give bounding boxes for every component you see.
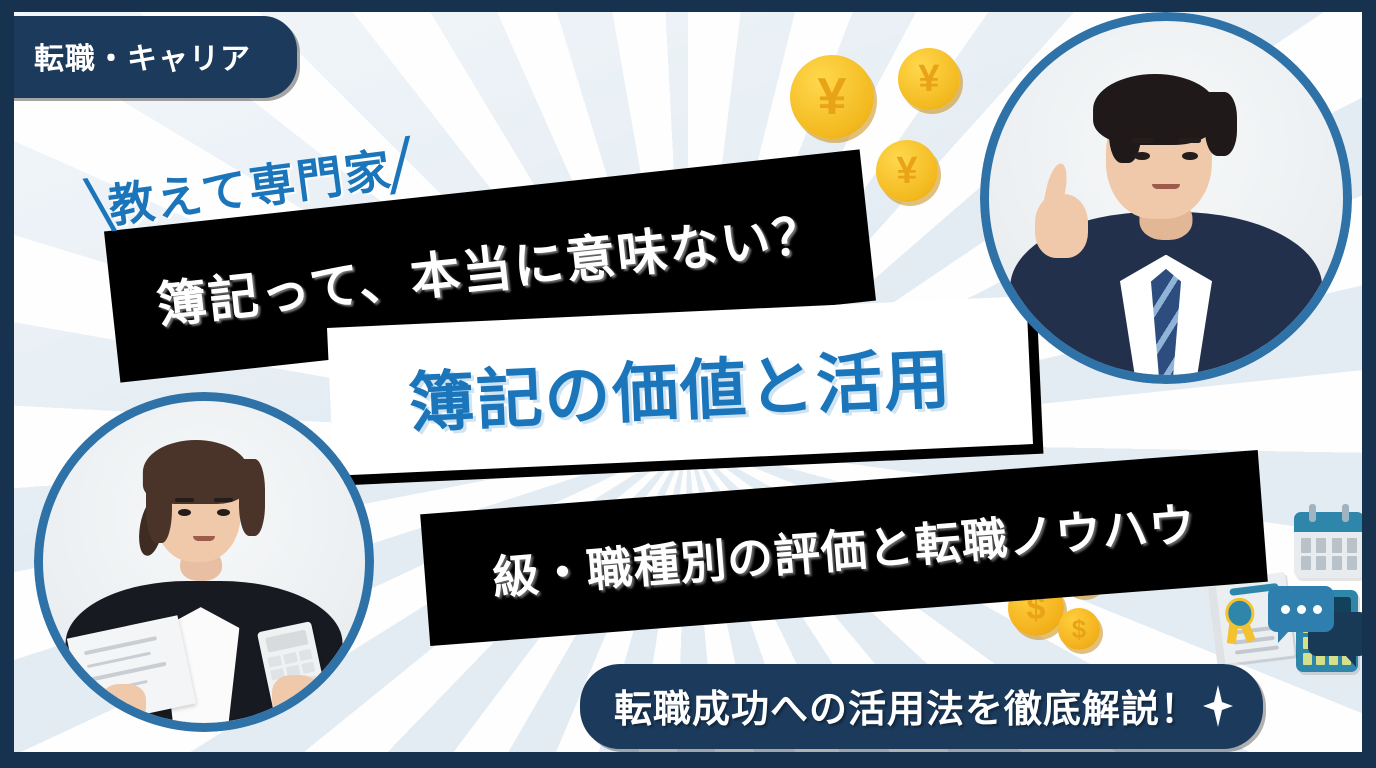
woman-mouth (193, 536, 216, 541)
yen-coin-icon: ¥ (898, 48, 960, 110)
calendar-header-bar (1294, 512, 1364, 532)
yen-symbol: ¥ (896, 150, 917, 193)
woman-hair-side-left (146, 459, 172, 543)
woman-brow-right (214, 498, 233, 503)
yen-coin-icon: ¥ (790, 55, 874, 139)
frame-left-border (0, 0, 14, 768)
man-brow-left (1131, 138, 1154, 144)
chat-bubble-light (1268, 586, 1334, 632)
man-mouth (1152, 184, 1180, 189)
thumbnail-canvas: 転職・キャリア 教えて専門家 ¥ ¥ ¥ 簿記って、本当に意味ない？ 簿記の価値… (0, 0, 1376, 768)
woman-hand-left (101, 684, 146, 723)
businessman-pointing-photo (980, 12, 1352, 384)
woman-eye-left (178, 509, 191, 516)
yen-symbol: ¥ (818, 67, 847, 127)
chat-bubbles-icon (1268, 582, 1368, 664)
businesswoman-documents-photo (34, 392, 374, 732)
woman-eye-right (217, 509, 230, 516)
man-brow-right (1178, 138, 1201, 144)
yen-coin-icon: ¥ (876, 140, 938, 202)
category-tag[interactable]: 転職・キャリア (0, 16, 297, 98)
man-hair-side-right (1205, 92, 1237, 156)
woman-brow-left (175, 498, 194, 503)
calendar-icon (1294, 512, 1364, 578)
dollar-symbol: $ (1072, 614, 1086, 645)
frame-bottom-border (0, 752, 1376, 768)
calendar-day-grid (1301, 538, 1357, 570)
frame-right-border (1362, 0, 1376, 768)
main-title-label: 簿記の価値と活用 (406, 326, 954, 447)
frame-top-border (0, 0, 1376, 12)
cta-pill-label: 転職成功への活用法を徹底解説！ (614, 678, 1199, 733)
woman-hand-right (272, 675, 320, 717)
category-tag-label: 転職・キャリア (34, 43, 251, 76)
calendar-ring-right (1342, 504, 1349, 522)
subtitle-banner-label: 級・職種別の評価と転職ノウハウ (490, 488, 1198, 608)
cta-pill[interactable]: 転職成功への活用法を徹底解説！ (580, 664, 1263, 749)
businesswoman-photo-inner (43, 401, 365, 723)
dollar-coin-icon: $ (1058, 608, 1100, 650)
yen-symbol: ¥ (918, 58, 939, 101)
woman-hair-side-right (239, 459, 265, 536)
calendar-ring-left (1309, 504, 1316, 522)
sparkle-icon (1203, 685, 1233, 727)
businessman-photo-inner (989, 21, 1343, 375)
